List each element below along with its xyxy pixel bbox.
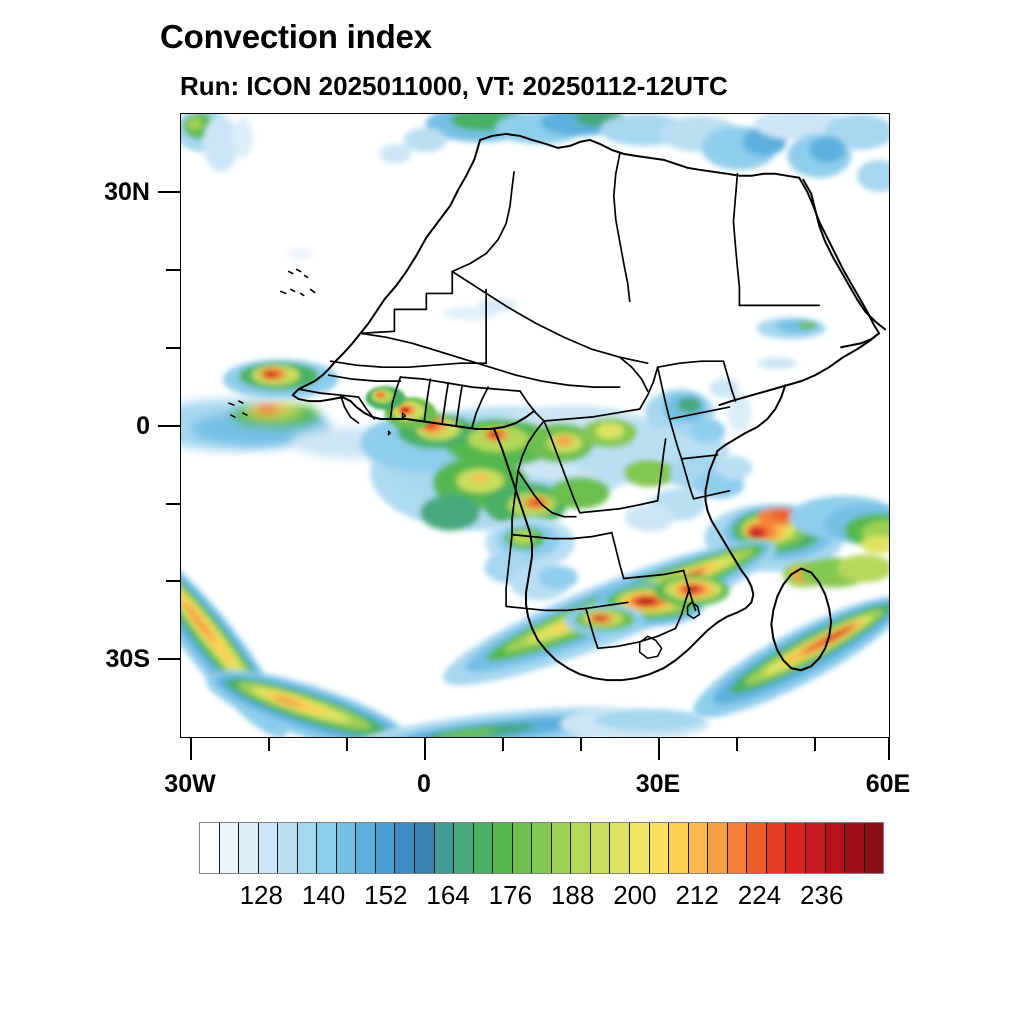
xtick-label-30W: 30W xyxy=(130,770,250,799)
xtick-minor-40E xyxy=(736,738,738,751)
colorbar-swatch xyxy=(200,823,220,873)
xtick-major-30E xyxy=(658,738,660,760)
colorbar-swatch xyxy=(278,823,298,873)
ytick-major-30S xyxy=(158,658,180,660)
field-persian-gulf xyxy=(756,134,889,369)
colorbar-swatch xyxy=(493,823,513,873)
ytick-major-0 xyxy=(158,425,180,427)
colorbar-swatch xyxy=(474,823,494,873)
colorbar-tick-label: 164 xyxy=(426,880,469,911)
colorbar-tick-label: 176 xyxy=(489,880,532,911)
colorbar-swatch xyxy=(415,823,435,873)
xtick-minor-50E xyxy=(814,738,816,751)
colorbar-swatch xyxy=(728,823,748,873)
colorbar-tick-label: 200 xyxy=(613,880,656,911)
xtick-minor-20W xyxy=(268,738,270,751)
colorbar-swatch xyxy=(571,823,591,873)
colorbar-swatch xyxy=(669,823,689,873)
colorbar-swatch xyxy=(220,823,240,873)
colorbar-swatch xyxy=(610,823,630,873)
xtick-major-0 xyxy=(424,738,426,760)
colorbar-swatch xyxy=(532,823,552,873)
colorbar-tick-label: 224 xyxy=(738,880,781,911)
colorbar-swatch xyxy=(298,823,318,873)
colorbar-swatch xyxy=(689,823,709,873)
colorbar-swatch xyxy=(708,823,728,873)
colorbar-swatch xyxy=(767,823,787,873)
xtick-label-0: 0 xyxy=(364,770,484,799)
colorbar[interactable] xyxy=(199,822,884,874)
ytick-major-30N xyxy=(158,191,180,193)
colorbar-swatch xyxy=(376,823,396,873)
xtick-major-60E xyxy=(888,738,890,760)
colorbar-tick-label: 152 xyxy=(364,880,407,911)
xtick-minor-10W xyxy=(346,738,348,751)
run-subtitle: Run: ICON 2025011000, VT: 20250112-12UTC xyxy=(180,71,728,102)
xtick-minor-20E xyxy=(580,738,582,751)
colorbar-swatch xyxy=(395,823,415,873)
colorbar-swatch xyxy=(591,823,611,873)
field-northwest-atlantic xyxy=(181,114,253,172)
colorbar-swatch xyxy=(435,823,455,873)
colorbar-swatch xyxy=(630,823,650,873)
colorbar-swatch xyxy=(865,823,884,873)
ytick-minor-10N xyxy=(166,347,180,349)
colorbar-swatch xyxy=(786,823,806,873)
ytick-label-30N: 30N xyxy=(40,178,150,207)
ytick-label-0: 0 xyxy=(40,412,150,441)
colorbar-tick-labels: 128140152164176188200212224236 xyxy=(0,880,1024,916)
colorbar-swatch xyxy=(317,823,337,873)
xtick-label-60E: 60E xyxy=(828,770,948,799)
colorbar-swatch xyxy=(337,823,357,873)
ytick-label-30S: 30S xyxy=(40,645,150,674)
colorbar-swatch xyxy=(747,823,767,873)
colorbar-tick-label: 236 xyxy=(800,880,843,911)
xtick-label-30E: 30E xyxy=(598,770,718,799)
colorbar-swatch xyxy=(513,823,533,873)
colorbar-tick-label: 212 xyxy=(675,880,718,911)
xtick-minor-10E xyxy=(502,738,504,751)
colorbar-swatch xyxy=(806,823,826,873)
xtick-major-30W xyxy=(190,738,192,760)
colorbar-swatch xyxy=(826,823,846,873)
colorbar-swatch xyxy=(845,823,865,873)
page-title: Convection index xyxy=(160,18,432,56)
colorbar-swatch xyxy=(259,823,279,873)
colorbar-swatch xyxy=(454,823,474,873)
colorbar-swatch xyxy=(650,823,670,873)
ytick-minor-20S xyxy=(166,580,180,582)
map-canvas xyxy=(181,114,889,737)
colorbar-tick-label: 140 xyxy=(302,880,345,911)
colorbar-swatch xyxy=(552,823,572,873)
figure-root: Convection index Run: ICON 2025011000, V… xyxy=(0,0,1024,1024)
ytick-minor-20N xyxy=(166,269,180,271)
colorbar-tick-label: 188 xyxy=(551,880,594,911)
ytick-minor-10S xyxy=(166,503,180,505)
map-plot-area[interactable] xyxy=(180,113,890,738)
colorbar-swatch xyxy=(356,823,376,873)
colorbar-swatch xyxy=(239,823,259,873)
colorbar-tick-label: 128 xyxy=(240,880,283,911)
